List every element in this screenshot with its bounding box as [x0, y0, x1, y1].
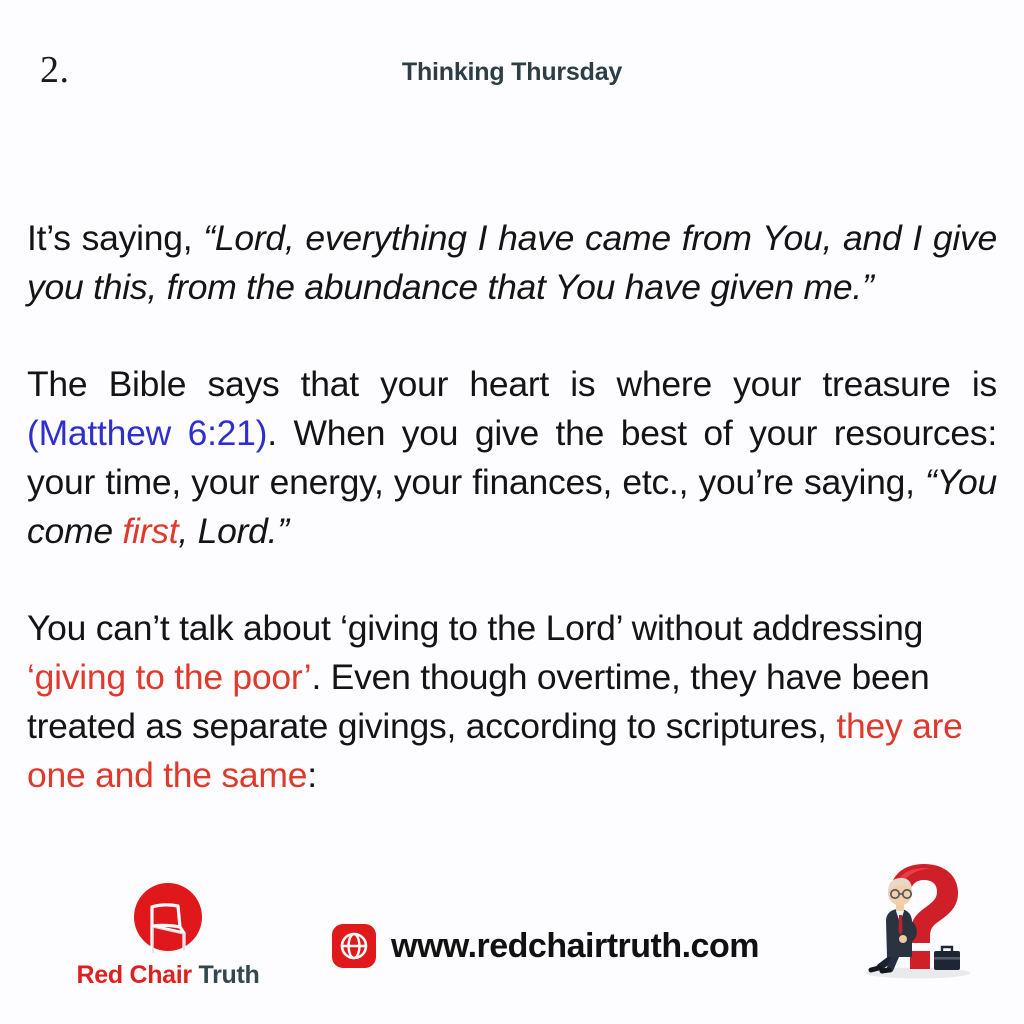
run-text: The Bible says that your heart is where … — [27, 364, 997, 404]
paragraph-1: It’s saying, “Lord, everything I have ca… — [27, 214, 997, 312]
brand-logo[interactable]: Red Chair Truth — [68, 881, 268, 990]
scripture-reference[interactable]: (Matthew 6:21) — [27, 413, 267, 453]
globe-icon — [332, 924, 376, 968]
paragraph-3: You can’t talk about ‘giving to the Lord… — [27, 604, 997, 800]
red-chair-logo-icon — [122, 881, 214, 959]
website-url-text[interactable]: www.redchairtruth.com — [391, 927, 759, 966]
run-quote-italic: , Lord.” — [178, 511, 288, 551]
emphasis-first: first — [122, 511, 178, 551]
series-title: Thinking Thursday — [0, 58, 1024, 87]
run-text: It’s saying, — [27, 218, 203, 258]
slide-canvas: 2. Thinking Thursday It’s saying, “Lord,… — [0, 0, 1024, 1024]
brand-word-red-chair: Red Chair — [76, 961, 191, 989]
brand-logo-wordmark: Red Chair Truth — [68, 961, 268, 990]
question-mark-illustration — [846, 859, 986, 984]
run-text: : — [307, 755, 317, 795]
emphasis-giving-to-the-poor: ‘giving to the poor’ — [27, 657, 311, 697]
brand-word-truth: Truth — [199, 961, 260, 989]
run-text: You can’t talk about ‘giving to the Lord… — [27, 608, 923, 648]
body-copy: It’s saying, “Lord, everything I have ca… — [27, 214, 997, 800]
paragraph-2: The Bible says that your heart is where … — [27, 360, 997, 556]
question-mark-businessman-icon — [846, 859, 986, 984]
website-link[interactable]: www.redchairtruth.com — [332, 924, 759, 968]
footer: Red Chair Truth www.redchairtruth.com — [0, 876, 1024, 996]
